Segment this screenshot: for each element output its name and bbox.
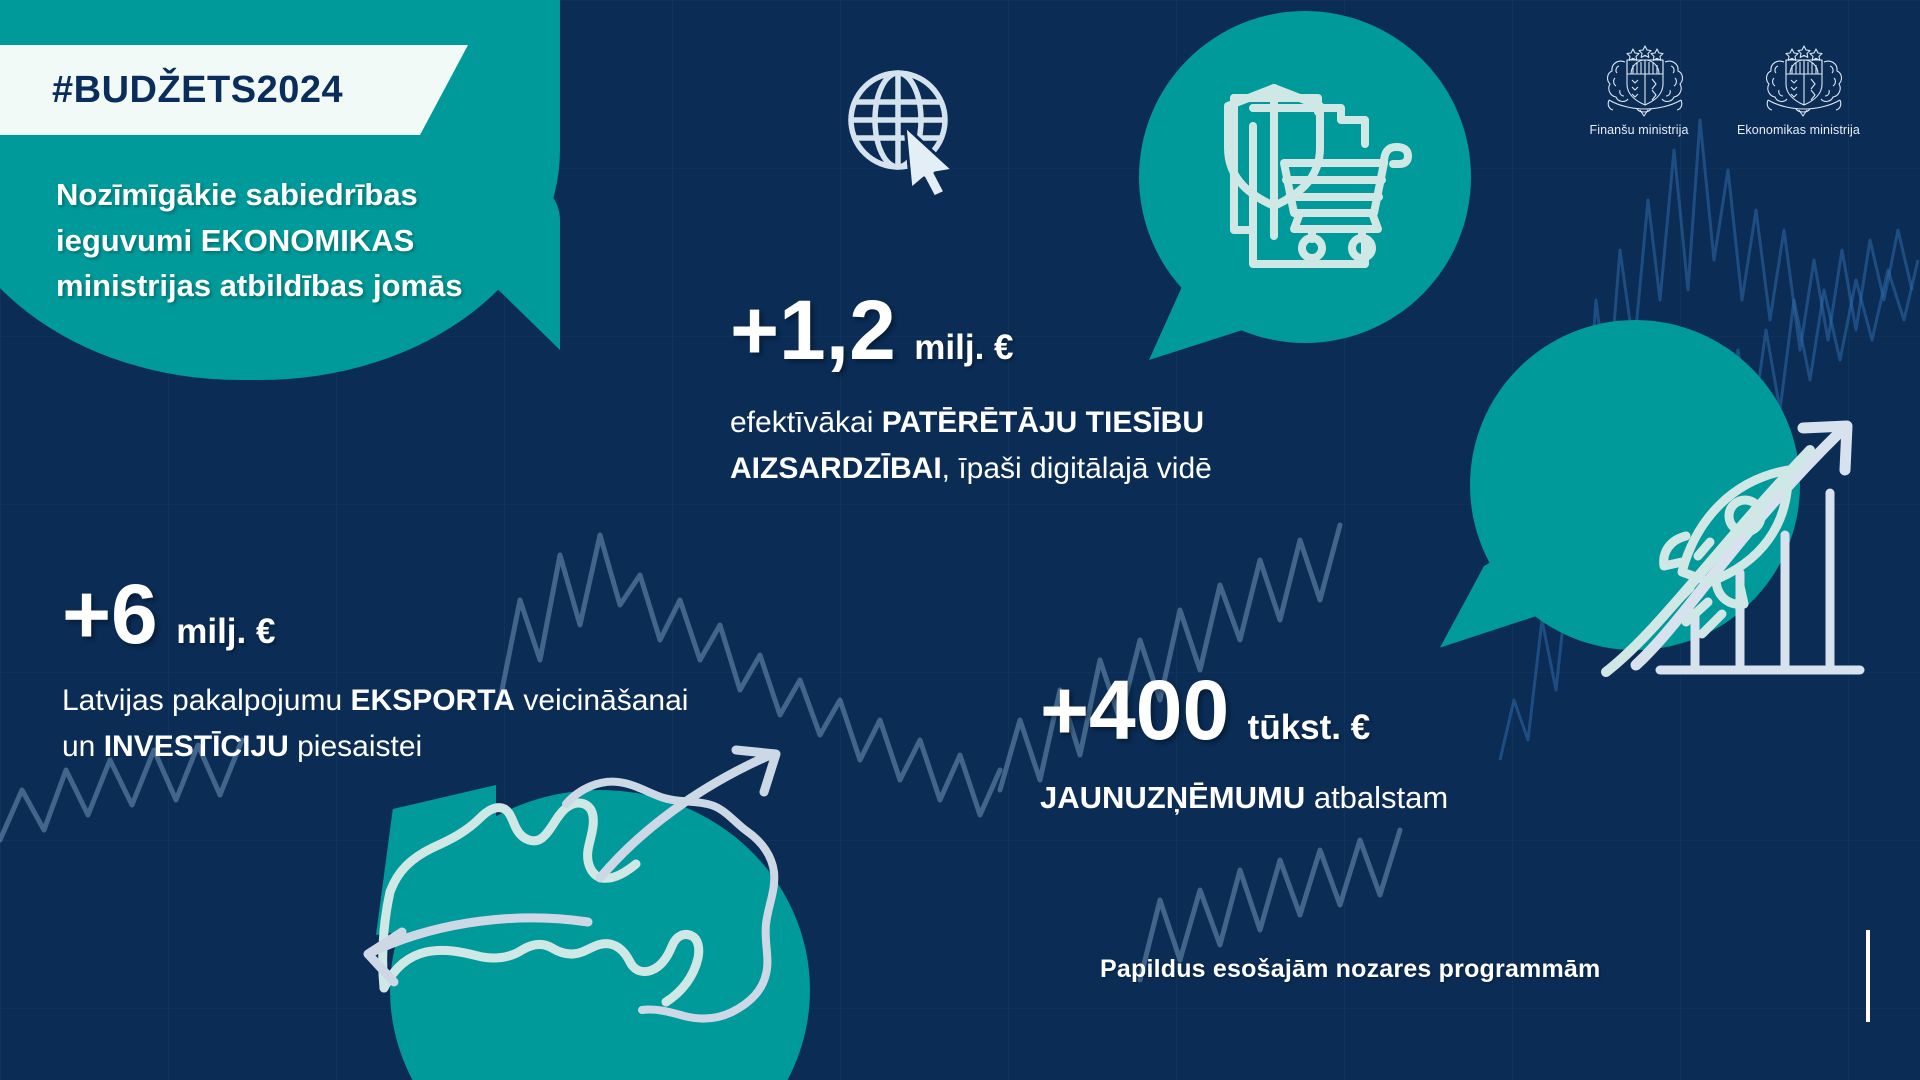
footnote-divider <box>1866 930 1870 1022</box>
logo-caption-finansu: Finanšu ministrija <box>1589 123 1688 137</box>
stat-consumer-rights: +1,2 milj. € efektīvākai PATĒRĒTĀJU TIES… <box>730 288 1390 491</box>
infographic-canvas: #BUDŽETS2024 Nozīmīgākie sabiedrības ieg… <box>0 0 1920 1080</box>
stat-description: Latvijas pakalpojumu EKSPORTA veicināšan… <box>62 678 712 769</box>
logo-ekonomikas-ministrija: Ekonomikas ministrija <box>1737 40 1860 137</box>
stat-unit: tūkst. € <box>1248 710 1371 745</box>
page-title: Nozīmīgākie sabiedrības ieguvumi EKONOMI… <box>56 172 526 309</box>
ministry-logos: Finanšu ministrija <box>1585 40 1860 137</box>
shield-cart-icon <box>1190 58 1425 303</box>
globe-cursor-icon <box>835 58 980 203</box>
latvia-map-icon <box>280 720 920 1080</box>
stat-startup-support: +400 tūkst. € JAUNUZŅĒMUMU atbalstam <box>1040 668 1680 821</box>
rocket-growth-icon <box>1510 320 1920 680</box>
footnote-text: Papildus esošajām nozares programmām <box>1100 955 1600 984</box>
latvian-coat-of-arms-icon <box>1585 40 1693 118</box>
latvian-coat-of-arms-icon <box>1744 40 1852 118</box>
stat-unit: milj. € <box>914 330 1013 365</box>
document-top <box>1253 108 1365 144</box>
stat-amount: +1,2 <box>730 288 896 372</box>
logo-caption-ekonomikas: Ekonomikas ministrija <box>1737 123 1860 137</box>
stat-unit: milj. € <box>176 614 275 649</box>
logo-finansu-ministrija: Finanšu ministrija <box>1585 40 1693 137</box>
stat-amount: +6 <box>62 572 158 656</box>
hashtag-banner: #BUDŽETS2024 <box>0 45 468 135</box>
hashtag-label: #BUDŽETS2024 <box>52 69 343 112</box>
stat-description: JAUNUZŅĒMUMU atbalstam <box>1040 774 1680 821</box>
stat-description: efektīvākai PATĒRĒTĀJU TIESĪBU AIZSARDZĪ… <box>730 400 1390 491</box>
stat-export-investment: +6 milj. € Latvijas pakalpojumu EKSPORTA… <box>62 572 722 769</box>
stat-amount: +400 <box>1040 668 1229 752</box>
